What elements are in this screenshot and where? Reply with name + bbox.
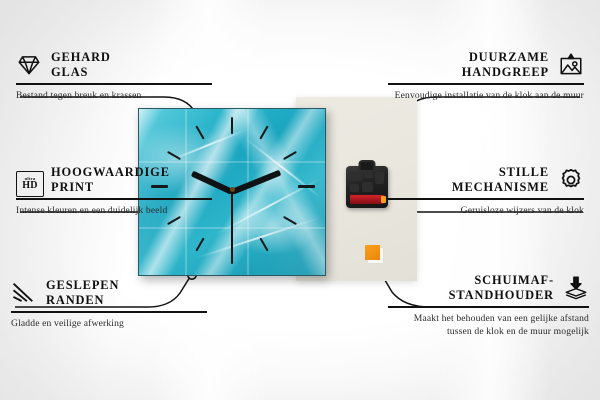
callout-title-line2: HANDGREEP (462, 65, 549, 79)
battery-terminal (381, 196, 386, 203)
picture-frame-icon (558, 52, 584, 78)
callout-rule (16, 83, 212, 85)
callout-description: Maakt het behouden van een gelijke afsta… (388, 313, 589, 339)
infographic-canvas: GEHARD GLAS Bestand tegen breuk en krass… (0, 0, 600, 400)
tick-3 (298, 185, 315, 188)
callout-rule (16, 198, 212, 200)
callout-title-line1: GESLEPEN (46, 278, 119, 292)
callout-schuimafstandhouder: SCHUIMAF- STANDHOUDER Maakt het behouden… (388, 273, 589, 339)
ultra-hd-icon: ultra HD (16, 167, 42, 193)
callout-rule (11, 311, 207, 313)
callout-gehard-glas: GEHARD GLAS Bestand tegen breuk en krass… (16, 50, 212, 103)
callout-rule (388, 306, 589, 308)
callout-description: Gladde en veilige afwerking (11, 318, 207, 331)
callout-duurzame-handgreep: DUURZAME HANDGREEP Eenvoudige installati… (388, 50, 584, 103)
clock-hub (230, 187, 235, 192)
diamond-icon (16, 52, 42, 78)
callout-description: Intense kleuren en een duidelijk beeld (16, 205, 212, 218)
callout-title-line1: HOOGWAARDIGE (51, 165, 170, 179)
press-down-icon (563, 275, 589, 301)
callout-title-line1: STILLE (499, 165, 549, 179)
callout-title-line2: PRINT (51, 180, 94, 194)
callout-title-line1: SCHUIMAF- (474, 273, 554, 287)
movement-shaft (359, 160, 376, 170)
callout-title-line1: DUURZAME (469, 50, 549, 64)
callout-title-line2: STANDHOUDER (449, 288, 554, 302)
diagonal-lines-icon (11, 280, 37, 306)
callout-title-line2: RANDEN (46, 293, 104, 307)
gear-icon (558, 167, 584, 193)
clock-movement-mechanism (346, 166, 388, 208)
second-hand (231, 191, 233, 253)
callout-stille-mechanisme: STILLE MECHANISME Geruisloze wijzers van… (388, 165, 584, 218)
callout-description: Geruisloze wijzers van de klok (388, 205, 584, 218)
callout-title-line1: GEHARD (51, 50, 111, 64)
callout-hoogwaardige-print: ultra HD HOOGWAARDIGE PRINT Intense kleu… (16, 165, 212, 218)
callout-rule (388, 83, 584, 85)
callout-description: Eenvoudige installatie van de klok aan d… (388, 90, 584, 103)
foam-spacer (365, 245, 380, 260)
tick-12 (231, 117, 233, 134)
callout-description: Bestand tegen breuk en krassen (16, 90, 212, 103)
callout-title-line2: MECHANISME (452, 180, 549, 194)
callout-rule (388, 198, 584, 200)
battery (350, 195, 384, 204)
callout-title-line2: GLAS (51, 65, 88, 79)
ultra-hd-large-text: HD (22, 181, 38, 191)
callout-geslepen-randen: GESLEPEN RANDEN Gladde en veilige afwerk… (11, 278, 207, 331)
